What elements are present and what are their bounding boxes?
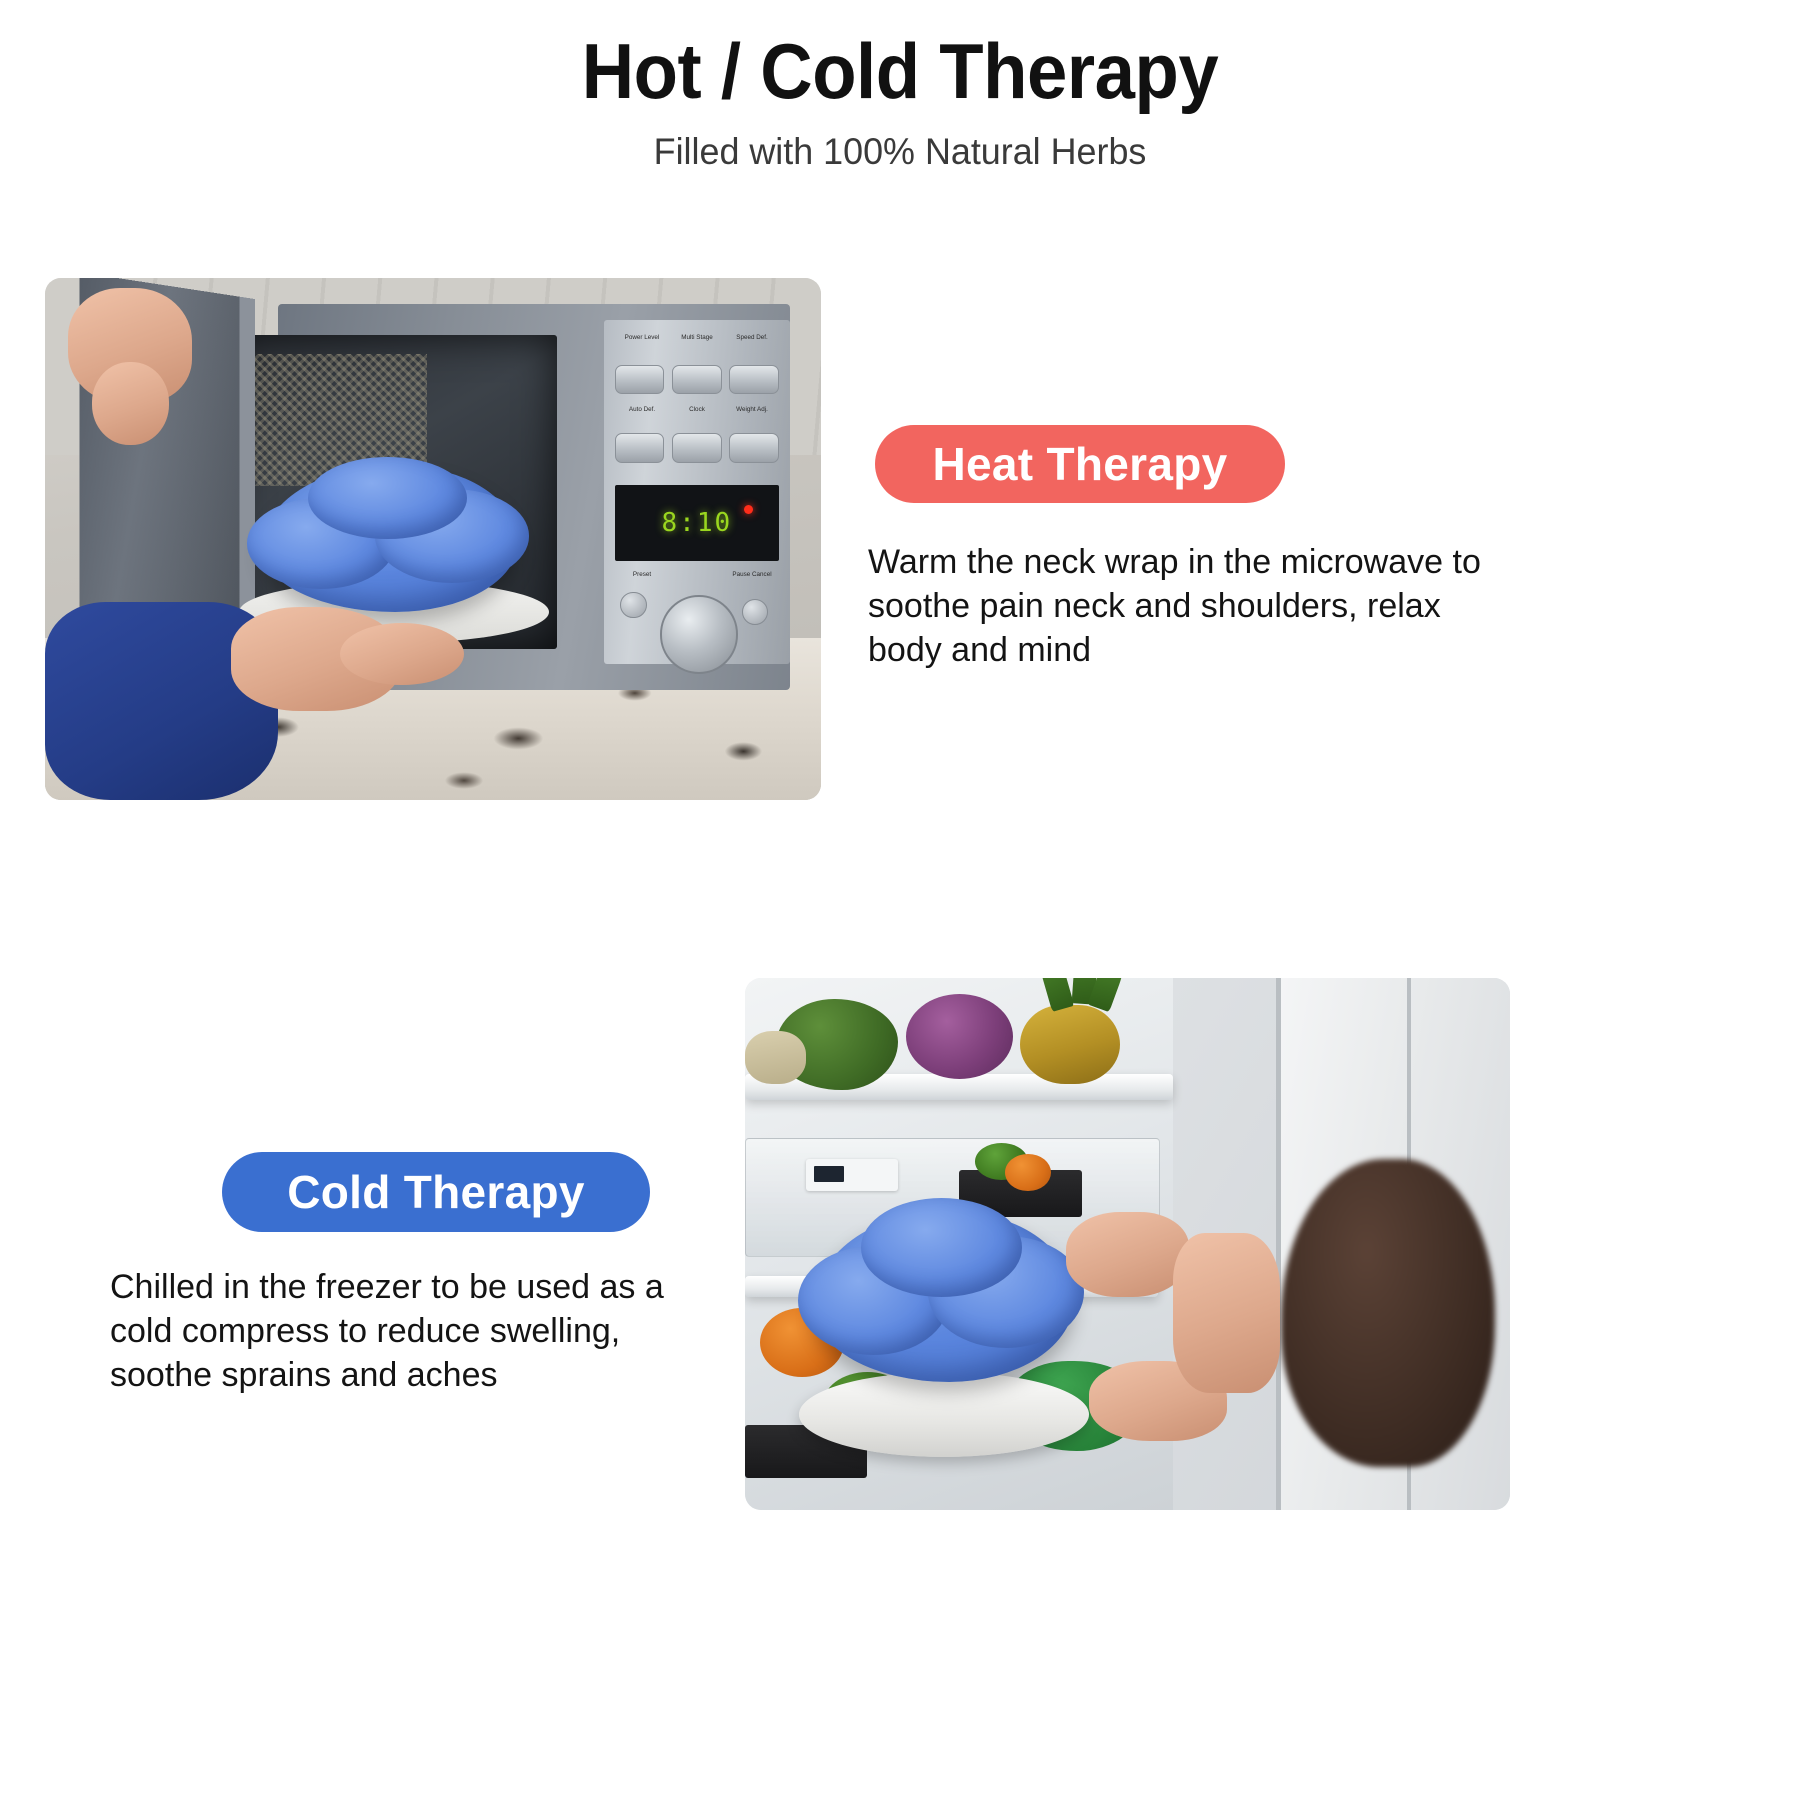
button-row-second: [615, 433, 779, 461]
refrigerator-scene: [745, 978, 1510, 1510]
pineapple: [1020, 1005, 1119, 1085]
fingers-upper-left: [92, 362, 170, 446]
heat-therapy-description: Warm the neck wrap in the microwave to s…: [868, 540, 1508, 672]
heat-therapy-badge: Heat Therapy: [875, 425, 1285, 503]
person-head: [1281, 1159, 1495, 1468]
microwave-scene: Power Level Multi Stage Speed Def. Auto …: [45, 278, 821, 800]
page-title: Hot / Cold Therapy: [63, 0, 1737, 114]
sticker-bar: [814, 1166, 845, 1182]
display-time: 8:10: [662, 508, 733, 538]
page-header: Hot / Cold Therapy Filled with 100% Natu…: [0, 0, 1800, 174]
menu-timer-knob[interactable]: [660, 595, 738, 673]
tomato: [1005, 1154, 1051, 1191]
cold-therapy-photo: [745, 978, 1510, 1510]
root-vegetable: [745, 1031, 806, 1084]
thumb: [340, 623, 464, 686]
wrap-lobe-top: [861, 1198, 1022, 1297]
button-label-pause-cancel: Pause Cancel: [727, 572, 776, 579]
cold-therapy-description: Chilled in the freezer to be used as a c…: [110, 1265, 670, 1397]
button-label-weight-adjust: Weight Adj.: [727, 406, 776, 413]
panel-button[interactable]: [615, 433, 665, 463]
red-cabbage: [906, 994, 1013, 1079]
door-seam: [1276, 978, 1281, 1510]
panel-button[interactable]: [729, 433, 779, 463]
fridge-plate: [799, 1372, 1090, 1457]
blue-neck-wrap: [814, 1212, 1074, 1382]
forearm: [1173, 1233, 1280, 1393]
preset-button[interactable]: [620, 592, 646, 618]
hand-right-upper: [1066, 1212, 1188, 1297]
panel-button[interactable]: [729, 365, 779, 395]
button-label-auto-def: Auto Def.: [618, 406, 667, 413]
pause-cancel-button[interactable]: [742, 599, 768, 625]
red-indicator-led: [744, 505, 753, 514]
wrap-lobe-top: [308, 457, 467, 539]
button-label-multi-stage: Multi Stage: [673, 334, 722, 341]
panel-button[interactable]: [672, 433, 722, 463]
heat-therapy-badge-label: Heat Therapy: [932, 437, 1227, 491]
button-label-power-level: Power Level: [618, 334, 667, 341]
blue-neck-wrap: [262, 466, 518, 612]
panel-button[interactable]: [672, 365, 722, 395]
cold-therapy-badge: Cold Therapy: [222, 1152, 650, 1232]
panel-button[interactable]: [615, 365, 665, 395]
button-row-top: [615, 365, 779, 393]
heat-therapy-photo: Power Level Multi Stage Speed Def. Auto …: [45, 278, 821, 800]
button-label-speed-def: Speed Def.: [727, 334, 776, 341]
microwave-control-panel: Power Level Multi Stage Speed Def. Auto …: [604, 320, 790, 665]
cold-therapy-badge-label: Cold Therapy: [287, 1165, 585, 1219]
microwave-display: 8:10: [615, 485, 779, 561]
page-subtitle: Filled with 100% Natural Herbs: [27, 114, 1773, 174]
button-label-preset: Preset: [618, 572, 667, 579]
button-label-clock: Clock: [673, 406, 722, 413]
